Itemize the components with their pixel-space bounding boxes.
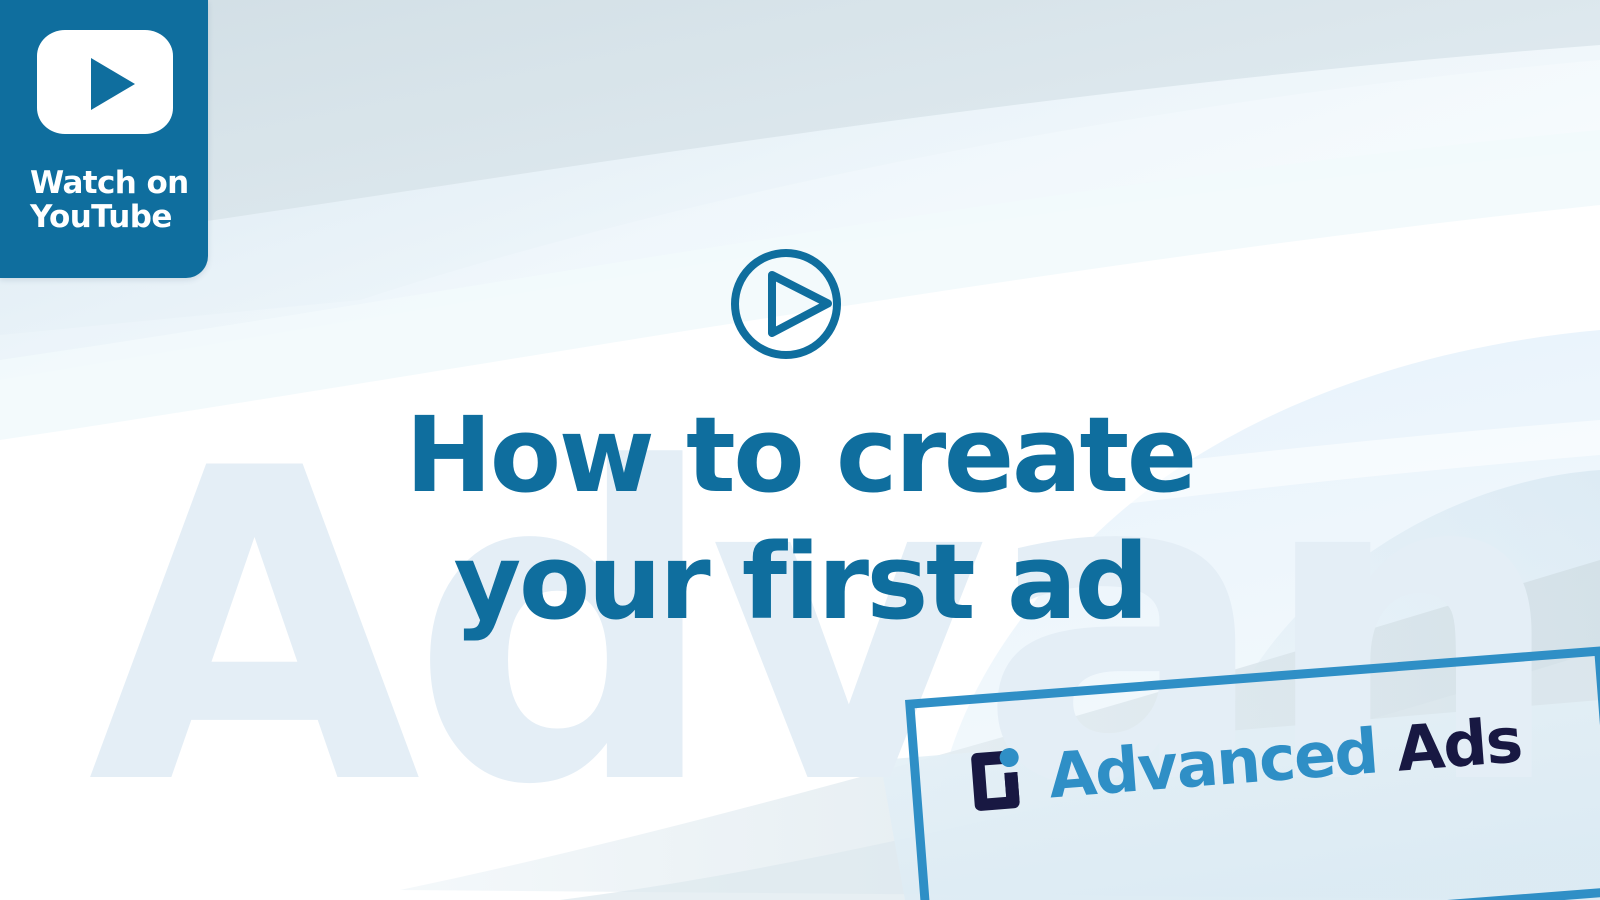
- video-thumbnail-slide: Advan Watch on YouTube How to create you…: [0, 0, 1600, 900]
- advanced-ads-logo-mark: [962, 743, 1029, 818]
- watch-on-youtube-label: Watch on YouTube: [30, 167, 189, 235]
- watch-on-youtube-badge[interactable]: Watch on YouTube: [0, 0, 208, 278]
- wordmark-ads: Ads: [1394, 703, 1524, 785]
- play-circle-icon[interactable]: [716, 245, 864, 363]
- youtube-play-icon: [37, 30, 173, 134]
- page-title: How to create your first ad: [0, 392, 1600, 646]
- youtube-triangle-icon: [91, 58, 135, 110]
